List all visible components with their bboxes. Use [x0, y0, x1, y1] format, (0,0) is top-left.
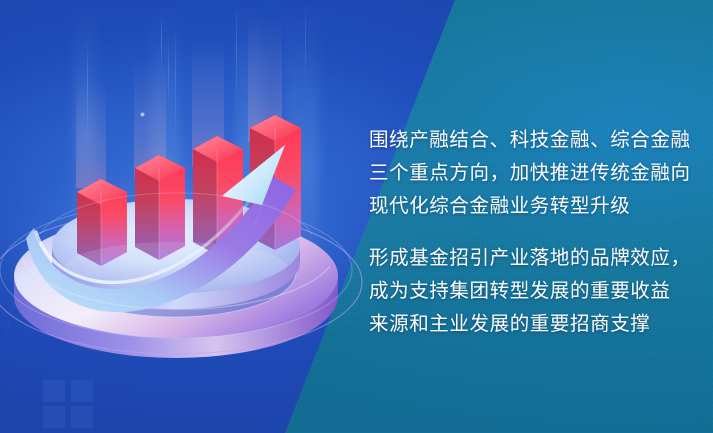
- paragraph-brand-effect: 形成基金招引产业落地的品牌效应， 成为支持集团转型发展的重要收益 来源和主业发展…: [369, 242, 699, 341]
- banner-canvas: 围绕产融结合、科技金融、综合金融 三个重点方向，加快推进传统金融向 现代化综合金…: [0, 0, 713, 433]
- text-block: 围绕产融结合、科技金融、综合金融 三个重点方向，加快推进传统金融向 现代化综合金…: [369, 104, 699, 361]
- growth-chart-illustration: [0, 0, 380, 433]
- paragraph-strategy-direction: 围绕产融结合、科技金融、综合金融 三个重点方向，加快推进传统金融向 现代化综合金…: [369, 124, 699, 223]
